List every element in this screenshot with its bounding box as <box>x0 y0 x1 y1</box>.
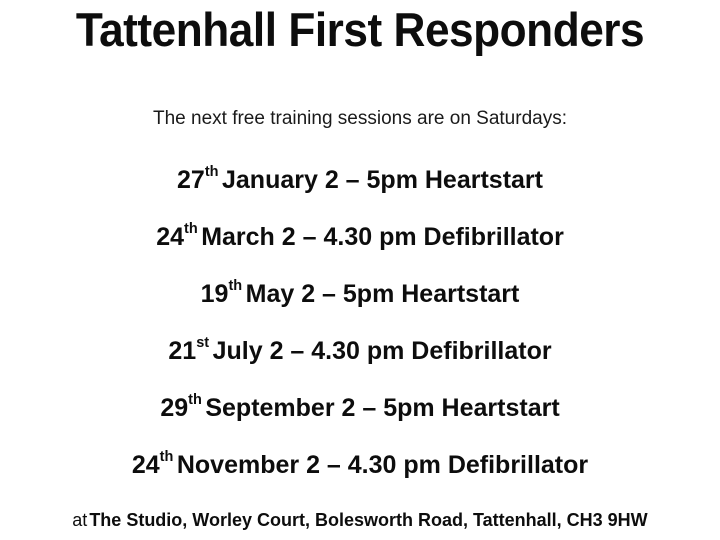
session-list: 27thJanuary 2 – 5pm Heartstart 24thMarch… <box>0 151 720 493</box>
page-title: Tattenhall First Responders <box>22 2 699 58</box>
list-item: 24thNovember 2 – 4.30 pm Defibrillator <box>0 436 720 493</box>
session-day: 27 <box>177 165 205 195</box>
session-day: 24 <box>132 450 160 480</box>
list-item: 29thSeptember 2 – 5pm Heartstart <box>0 379 720 436</box>
session-day-suffix: th <box>188 385 202 415</box>
session-day-suffix: th <box>184 214 198 244</box>
subtitle-text: The next free training sessions are on S… <box>0 107 720 131</box>
session-details: May 2 – 5pm Heartstart <box>243 279 520 309</box>
list-item: 27thJanuary 2 – 5pm Heartstart <box>0 151 720 208</box>
session-day-suffix: th <box>228 271 242 301</box>
session-day-suffix: th <box>160 442 174 472</box>
session-day: 19 <box>201 279 229 309</box>
list-item: 21stJuly 2 – 4.30 pm Defibrillator <box>0 322 720 379</box>
session-details: March 2 – 4.30 pm Defibrillator <box>198 222 564 252</box>
session-day: 24 <box>156 222 184 252</box>
session-day: 21 <box>168 336 196 366</box>
session-details: September 2 – 5pm Heartstart <box>202 393 559 423</box>
poster-canvas: Tattenhall First Responders The next fre… <box>0 0 720 540</box>
session-details: January 2 – 5pm Heartstart <box>219 165 543 195</box>
session-details: November 2 – 4.30 pm Defibrillator <box>174 450 588 480</box>
venue-prefix: at <box>72 510 87 530</box>
session-details: July 2 – 4.30 pm Defibrillator <box>210 336 552 366</box>
session-day-suffix: th <box>205 157 219 187</box>
venue-address-text: The Studio, Worley Court, Bolesworth Roa… <box>87 510 647 530</box>
session-day: 29 <box>160 393 188 423</box>
session-day-suffix: st <box>196 328 209 358</box>
list-item: 24thMarch 2 – 4.30 pm Defibrillator <box>0 208 720 265</box>
venue-address: atThe Studio, Worley Court, Bolesworth R… <box>0 508 720 532</box>
list-item: 19thMay 2 – 5pm Heartstart <box>0 265 720 322</box>
